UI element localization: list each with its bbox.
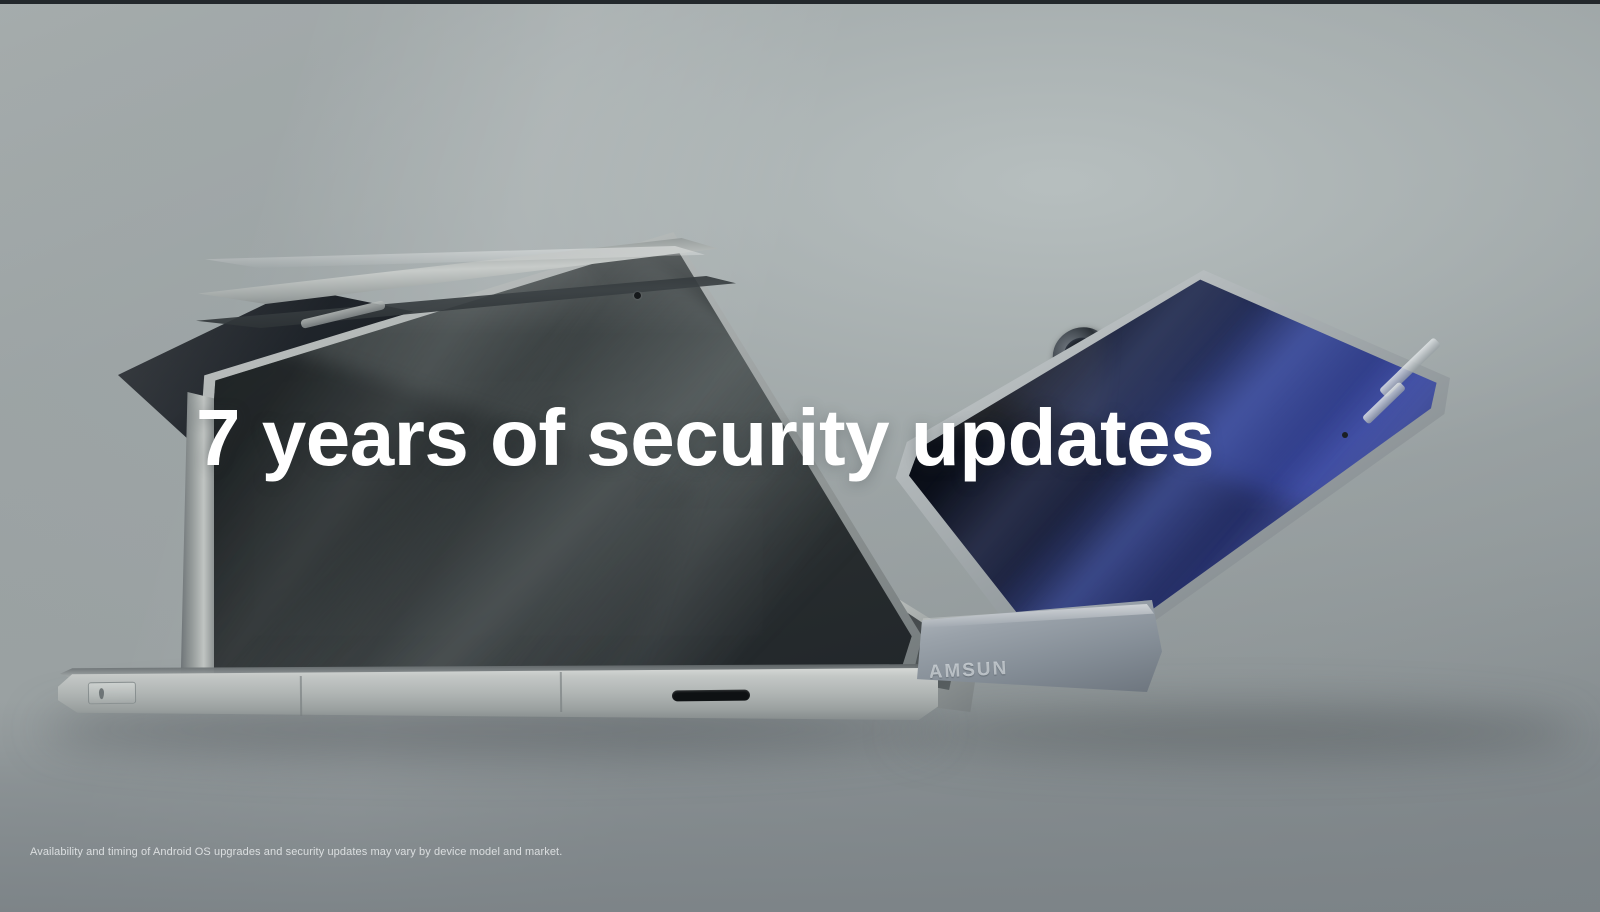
left-foldable-device — [0, 0, 1000, 760]
samsung-wordmark: SAMSUNG — [929, 658, 1008, 684]
letterbox-bar-top — [0, 0, 1600, 4]
left-base-half — [58, 668, 938, 720]
microphone-icon — [1342, 432, 1348, 438]
page-title: 7 years of security updates — [196, 398, 1214, 478]
punch-hole-camera-icon — [634, 292, 641, 299]
legal-disclaimer: Availability and timing of Android OS up… — [30, 846, 562, 858]
samsung-wordmark-text: SAMSUNG — [929, 658, 1008, 684]
sim-tray-icon — [88, 682, 136, 705]
antenna-band-icon — [300, 676, 302, 716]
video-keyframe: SAMSUNG 7 years of security updates Avai… — [0, 0, 1600, 912]
antenna-band-icon — [560, 672, 562, 712]
usb-c-port-icon — [672, 690, 750, 702]
